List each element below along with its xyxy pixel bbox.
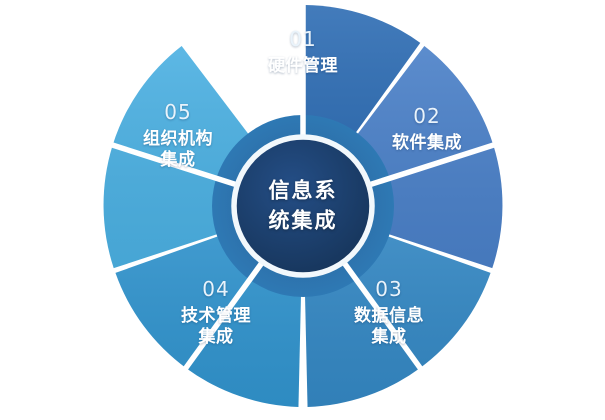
diagram-canvas: 01 硬件管理 02 软件集成 03 数据信息 集成 04 技术管理 集成 05…: [0, 0, 605, 420]
donut-chart: [0, 0, 605, 420]
hub-circle[interactable]: [234, 137, 372, 275]
